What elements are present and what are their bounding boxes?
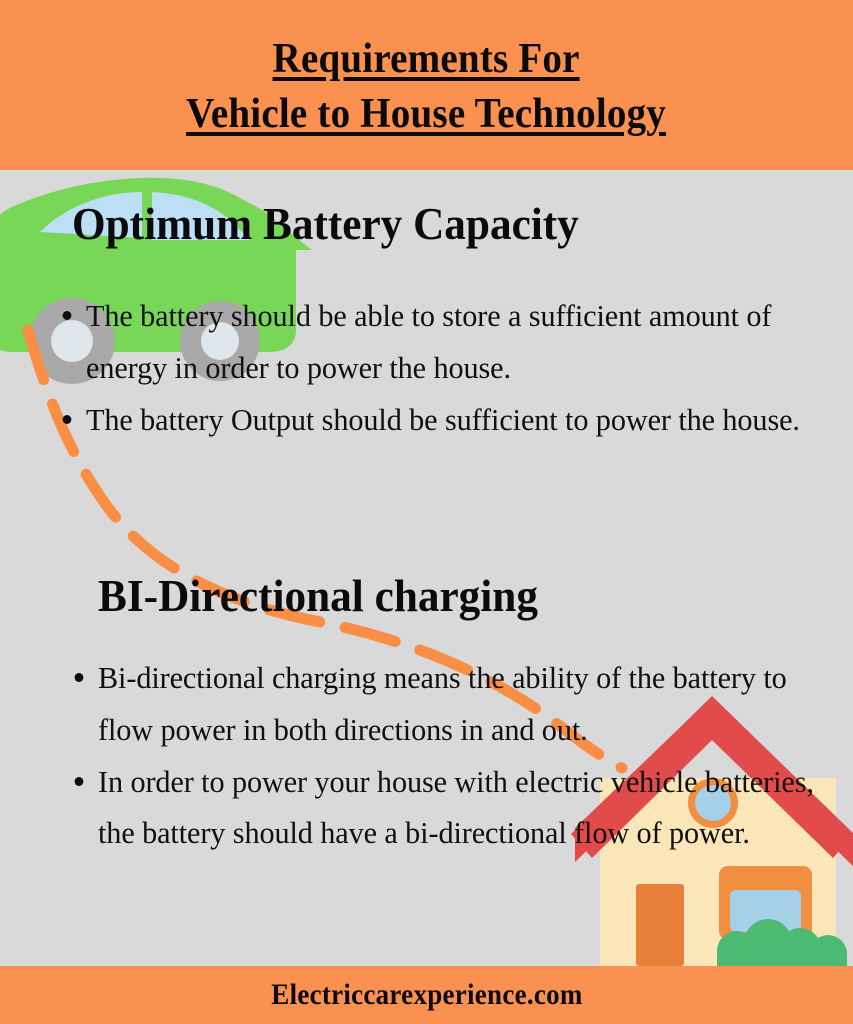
poster-title-line-2: Vehicle to House Technology	[187, 87, 667, 142]
list-item: Bi-directional charging means the abilit…	[98, 652, 849, 756]
poster-footer: Electriccarexperience.com	[0, 966, 853, 1024]
section-heading-bi-directional-charging: BI-Directional charging	[98, 572, 538, 620]
bullet-list-optimum-battery-capacity: The battery should be able to store a su…	[50, 290, 846, 445]
list-item: The battery Output should be sufficient …	[86, 394, 827, 446]
bullet-list-bi-directional-charging: Bi-directional charging means the abilit…	[62, 652, 853, 859]
poster-title-line-1: Requirements For	[273, 32, 580, 87]
poster-header: Requirements For Vehicle to House Techno…	[0, 0, 853, 170]
poster-content: Optimum Battery Capacity The battery sho…	[0, 170, 853, 966]
section-heading-optimum-battery-capacity: Optimum Battery Capacity	[72, 200, 579, 248]
list-item: The battery should be able to store a su…	[86, 290, 827, 394]
list-item: In order to power your house with electr…	[98, 756, 849, 860]
website-url: Electriccarexperience.com	[271, 978, 582, 1012]
infographic-poster: Requirements For Vehicle to House Techno…	[0, 0, 853, 1024]
